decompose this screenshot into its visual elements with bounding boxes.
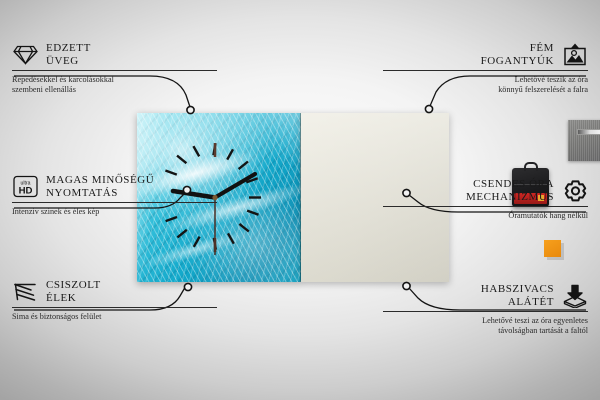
feature-desc-line2: távolságban tartását a faltól [383, 326, 588, 336]
feature-title-line1: CSISZOLT [46, 279, 101, 292]
feature-desc-line1: Repedésekkel és karcolásokkal [12, 75, 217, 85]
feature-tempered-glass: EDZETT ÜVEG Repedésekkel és karcolásokka… [12, 42, 217, 95]
feature-divider [12, 307, 217, 308]
feature-title-line2: FOGANTYÚK [481, 55, 554, 68]
feature-high-quality-print: ultra HD MAGAS MINŐSÉGŰ NYOMTATÁS Intenz… [12, 174, 217, 217]
polished-edges-icon [12, 280, 38, 304]
gear-icon [562, 179, 588, 203]
feature-desc-line1: Lehetővé teszik az óra [383, 75, 588, 85]
picture-hanger-icon [562, 43, 588, 67]
feature-divider [383, 206, 588, 207]
feature-title-line1: CSENDES ÓRA [466, 178, 554, 191]
feature-silent-mechanism: CSENDES ÓRA MECHANIZMUS Óramutatók hang … [383, 178, 588, 221]
feature-title-line2: ÜVEG [46, 55, 91, 68]
ultra-hd-icon: ultra HD [12, 175, 38, 199]
feature-metal-handles: FÉM FOGANTYÚK Lehetővé teszik az óra kön… [383, 42, 588, 95]
feature-title-line1: FÉM [481, 42, 554, 55]
ultra-hd-icon-bottom: HD [18, 185, 32, 196]
connector-dot-tempered-glass [187, 106, 194, 113]
feature-desc-line2: szembeni ellenállás [12, 85, 217, 95]
feature-title-line1: HABSZIVACS [481, 283, 554, 296]
feature-title-line2: ALÁTÉT [481, 296, 554, 309]
feature-divider [383, 311, 588, 312]
foam-pad-icon [562, 284, 588, 308]
feature-desc-line2: könnyű felszerelését a falra [383, 85, 588, 95]
feature-foam-backing: HABSZIVACS ALÁTÉT Lehetővé teszi az óra … [383, 283, 588, 336]
feature-title-line1: EDZETT [46, 42, 91, 55]
connector-dot-metal-handles [425, 105, 432, 112]
feature-divider [12, 70, 217, 71]
feature-title-line2: MECHANIZMUS [466, 191, 554, 204]
feature-title-line2: ÉLEK [46, 292, 101, 305]
feature-desc-line1: Lehetővé teszi az óra egyenletes [383, 316, 588, 326]
feature-desc-line1: Óramutatók hang nélkül [383, 211, 588, 221]
feature-title-line1: MAGAS MINŐSÉGŰ [46, 174, 154, 187]
feature-divider [383, 70, 588, 71]
feature-divider [12, 202, 217, 203]
feature-desc-line1: Sima és biztonságos felület [12, 312, 217, 322]
infographic-canvas: EDZETT ÜVEG Repedésekkel és karcolásokka… [0, 0, 600, 400]
feature-title-line2: NYOMTATÁS [46, 187, 154, 200]
diamond-icon [12, 43, 38, 67]
feature-desc-line1: Intenzív színek és éles kép [12, 207, 217, 217]
feature-polished-edges: CSISZOLT ÉLEK Sima és biztonságos felüle… [12, 279, 217, 322]
